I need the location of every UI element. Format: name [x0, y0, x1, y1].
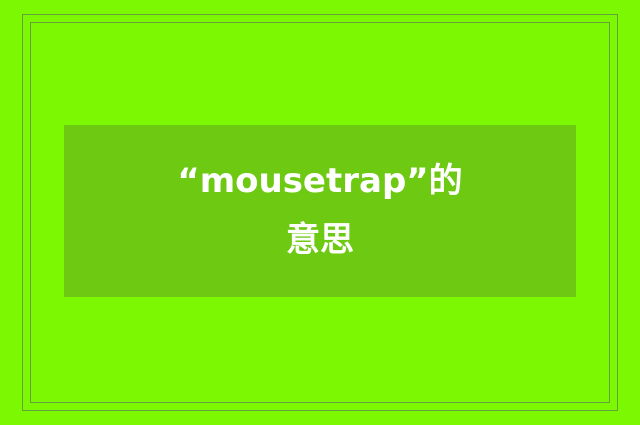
- poster-canvas: “mousetrap”的意思: [0, 0, 640, 425]
- title-band: “mousetrap”的意思: [64, 125, 576, 297]
- page-title: “mousetrap”的意思: [170, 152, 470, 271]
